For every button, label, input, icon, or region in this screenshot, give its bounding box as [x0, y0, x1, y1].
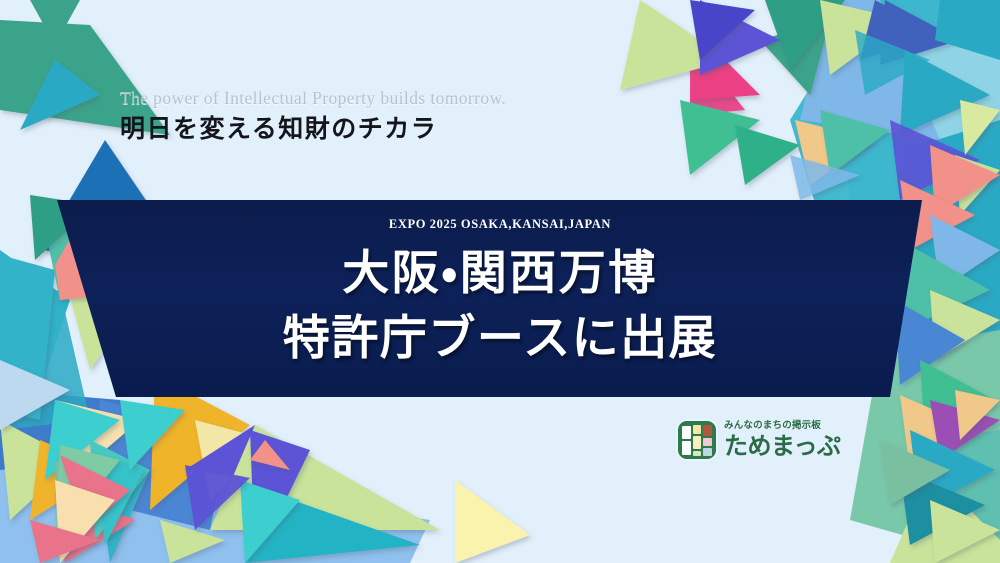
tagline-english: The power of Intellectual Property build…	[120, 88, 506, 110]
expo-eyebrow: EXPO 2025 OSAKA,KANSAI,JAPAN	[0, 217, 1000, 232]
page-title-line-2: 特許庁ブースに出展	[0, 307, 1000, 372]
tagline-japanese: 明日を変える知財のチカラ	[120, 114, 506, 144]
page-title-line-1: 大阪・関西万博	[0, 242, 1000, 307]
page-title: 大阪・関西万博 特許庁ブースに出展	[0, 242, 1000, 372]
logo-wordmark: みんなのまちの掲示板 ためまっぷ	[724, 421, 841, 460]
logo-name: ためまっぷ	[724, 434, 841, 458]
logo-tagline: みんなのまちの掲示板	[724, 421, 841, 431]
bulletin-board-icon	[678, 421, 716, 459]
banner-graphic: The power of Intellectual Property build…	[0, 0, 1000, 563]
tamemappu-logo[interactable]: みんなのまちの掲示板 ためまっぷ	[678, 421, 841, 460]
tagline-block: The power of Intellectual Property build…	[120, 88, 506, 144]
